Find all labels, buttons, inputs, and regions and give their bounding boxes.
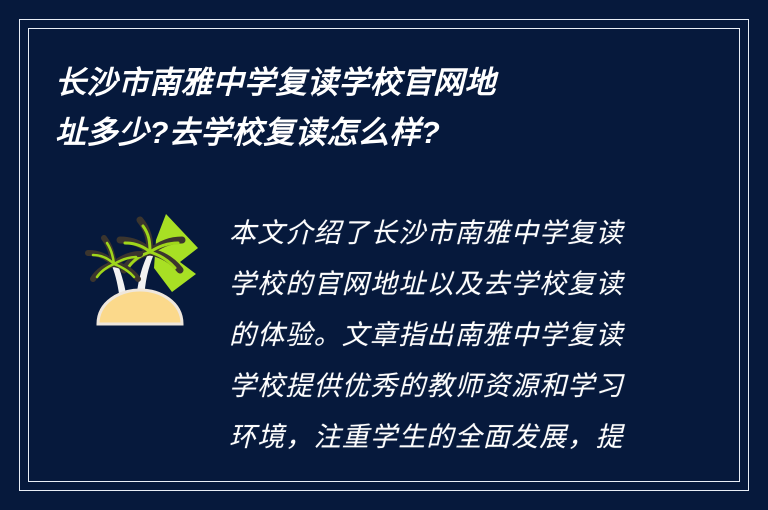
body-line-2: 学校的官网地址以及去学校复读: [229, 259, 661, 310]
page-title: 长沙市南雅中学复读学校官网地 址多少?去学校复读怎么样?: [55, 58, 655, 158]
article-cover-card: 长沙市南雅中学复读学校官网地 址多少?去学校复读怎么样?: [0, 0, 768, 510]
sand-mound: [98, 290, 182, 324]
article-summary: 本文介绍了长沙市南雅中学复读 学校的官网地址以及去学校复读 的体验。文章指出南雅…: [229, 208, 661, 508]
body-line-4: 学校提供优秀的教师资源和学习: [229, 361, 661, 412]
title-line-1: 长沙市南雅中学复读学校官网地: [55, 58, 655, 108]
body-line-1: 本文介绍了长沙市南雅中学复读: [229, 208, 661, 259]
body-line-5: 环境，注重学生的全面发展，提: [229, 412, 661, 463]
title-line-2: 址多少?去学校复读怎么样?: [55, 108, 655, 158]
palm-trees-island-icon: [62, 196, 217, 346]
body-line-3: 的体验。文章指出南雅中学复读: [229, 310, 661, 361]
